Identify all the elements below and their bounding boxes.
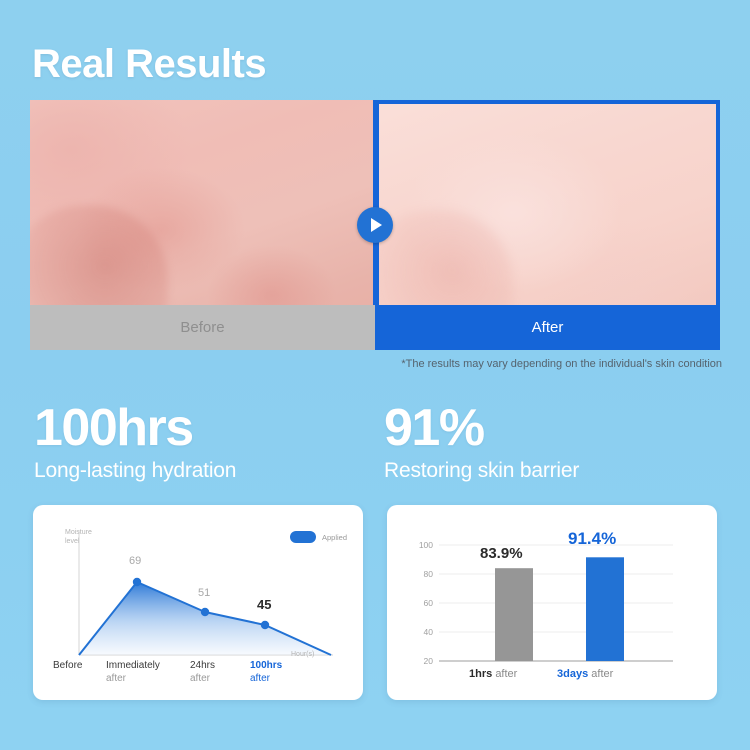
line-chart-x-axis-label: Hour(s)	[291, 651, 314, 658]
x-label-24hrs-after: 24hrs after	[190, 660, 215, 685]
bar-x-label-3days-after: 3days after	[557, 668, 613, 680]
line-chart-y-axis-label: Moisture level	[65, 529, 92, 547]
stat-hydration: 100hrs Long-lasting hydration	[34, 402, 236, 483]
bar-value-label-3days: 91.4%	[568, 529, 616, 549]
after-label: After	[375, 305, 720, 350]
play-icon[interactable]	[357, 207, 393, 243]
play-triangle	[371, 218, 382, 232]
bar-chart: 100 80 60 40 20 83.9% 91.4% 1hrs after 3…	[387, 505, 717, 700]
data-point	[133, 578, 141, 586]
line-chart-legend: Applied	[290, 531, 347, 543]
y-tick-20: 20	[411, 656, 433, 666]
y-tick-80: 80	[411, 569, 433, 579]
page-title: Real Results	[32, 44, 266, 84]
bar-x-label-1hrs-after: 1hrs after	[469, 668, 517, 680]
x-label-100hrs-after: 100hrs after	[250, 660, 282, 685]
stat-caption: Restoring skin barrier	[384, 459, 579, 483]
disclaimer-text: *The results may vary depending on the i…	[401, 358, 722, 370]
y-axis-label-line1: Moisture	[65, 529, 92, 536]
bar-chart-svg	[387, 505, 717, 700]
y-axis-label-line2: level	[65, 538, 79, 545]
y-tick-100: 100	[411, 540, 433, 550]
legend-label-applied: Applied	[322, 533, 347, 542]
bar-3days-after	[586, 557, 624, 661]
x-label-before: Before	[53, 660, 82, 673]
stat-barrier: 91% Restoring skin barrier	[384, 402, 579, 483]
data-point	[261, 621, 269, 629]
line-chart-x-labels: Before Immediately after 24hrs after 100…	[33, 660, 363, 698]
data-point	[201, 608, 209, 616]
point-label-51: 51	[198, 587, 210, 599]
legend-swatch-applied	[290, 531, 316, 543]
bar-1hrs-after	[495, 568, 533, 661]
y-tick-60: 60	[411, 598, 433, 608]
stat-caption: Long-lasting hydration	[34, 459, 236, 483]
stat-value: 91%	[384, 402, 579, 455]
y-tick-40: 40	[411, 627, 433, 637]
barrier-chart-card: 100 80 60 40 20 83.9% 91.4% 1hrs after 3…	[387, 505, 717, 700]
line-chart: Moisture level Applied	[33, 505, 363, 700]
stat-value: 100hrs	[34, 402, 236, 455]
bar-value-label-1hrs: 83.9%	[480, 545, 523, 562]
before-label: Before	[30, 305, 375, 350]
x-label-immediately-after: Immediately after	[106, 660, 160, 685]
hydration-chart-card: Moisture level Applied	[33, 505, 363, 700]
point-label-69: 69	[129, 555, 141, 567]
point-label-45: 45	[257, 597, 271, 612]
promo-page: Real Results Before After *The results m…	[0, 0, 750, 750]
